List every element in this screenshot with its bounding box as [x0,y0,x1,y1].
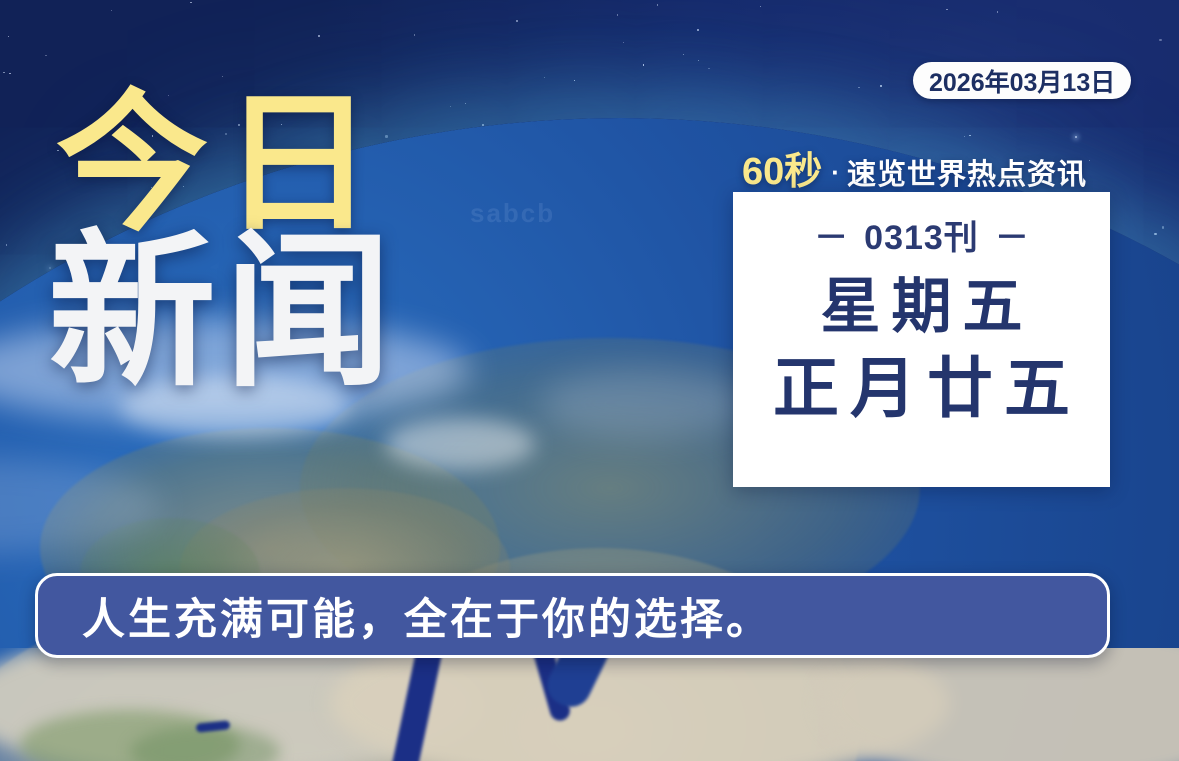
date-badge-text: 2026年03月13日 [929,63,1115,99]
subtitle-highlight: 60秒 [742,140,822,195]
card-issue-line: －0313刊－ [814,210,1029,259]
info-card: －0313刊－ 星期五 正月廿五 [733,192,1110,487]
title-line-xinwen: 新闻 [48,228,400,396]
subtitle-line: 60秒 · 速览世界热点资讯 [742,140,1114,195]
news-poster: sabcb 今日 新闻 2026年03月13日 60秒 · 速览世界热点资讯 －… [0,0,1179,761]
quote-banner: 人生充满可能，全在于你的选择。 [35,573,1110,658]
issue-number: 0313刊 [864,219,979,257]
cloud-patch-3 [540,368,750,438]
desert-sand-3 [820,648,1179,761]
poster-title: 今日 新闻 [56,92,400,396]
subtitle-separator: · [831,157,840,188]
bottom-terrain-detail [0,648,1179,761]
issue-dash-right: － [995,219,1029,257]
subtitle-rest: 速览世界热点资讯 [847,151,1087,193]
card-lunar-date: 正月廿五 [762,354,1081,423]
issue-dash-left: － [814,219,848,257]
watermark-text: sabcb [470,198,555,229]
card-weekday: 星期五 [810,275,1034,338]
quote-text: 人生充满可能，全在于你的选择。 [82,585,772,647]
title-line-jinri: 今日 [56,92,400,238]
cloud-patch-2 [385,418,535,470]
date-badge: 2026年03月13日 [913,62,1131,99]
